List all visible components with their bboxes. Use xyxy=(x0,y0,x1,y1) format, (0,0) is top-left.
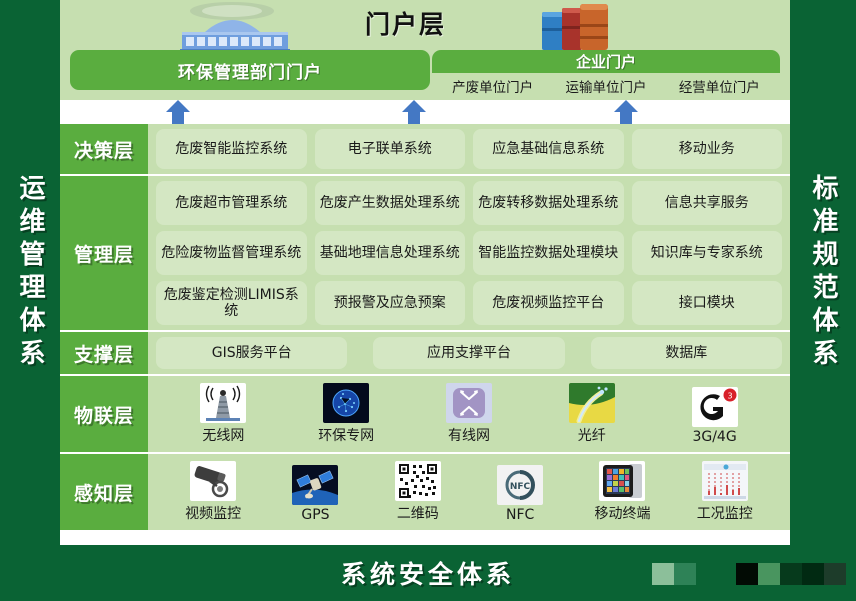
swatch xyxy=(802,563,824,585)
layer-support-label: 支撑层 xyxy=(60,332,148,374)
iot-item[interactable]: 3 3G/4G xyxy=(667,387,763,445)
iot-item[interactable]: 光纤 xyxy=(544,383,640,445)
iot-item-caption: 环保专网 xyxy=(318,425,374,445)
layer-sensing-items: 视频监控 xyxy=(156,459,782,525)
layer-decision-body: 危废智能监控系统 电子联单系统 应急基础信息系统 移动业务 xyxy=(148,124,790,174)
iot-item-caption: 3G/4G xyxy=(692,429,736,445)
layer-management: 管理层 危废超市管理系统 危废产生数据处理系统 危废转移数据处理系统 信息共享服… xyxy=(60,176,790,332)
system-cell[interactable]: 应急基础信息系统 xyxy=(473,129,624,169)
layer-decision-label: 决策层 xyxy=(60,124,148,174)
right-rail-standards-system: 标准规范体系 xyxy=(790,0,856,545)
waste-barrels-icon xyxy=(540,2,622,52)
arrow-connector-strip xyxy=(60,100,790,124)
layer-support-row-0: GIS服务平台 应用支撑平台 数据库 xyxy=(156,337,782,369)
layer-management-row-1: 危险废物监督管理系统 基础地理信息处理系统 智能监控数据处理模块 知识库与专家系… xyxy=(156,231,782,275)
layer-support: 支撑层 GIS服务平台 应用支撑平台 数据库 xyxy=(60,332,790,376)
system-cell[interactable]: 信息共享服务 xyxy=(632,181,783,225)
system-cell[interactable]: 应用支撑平台 xyxy=(373,337,564,369)
sensing-item[interactable]: 视频监控 xyxy=(165,461,261,523)
system-cell[interactable]: 移动业务 xyxy=(632,129,783,169)
process-monitor-icon xyxy=(702,461,748,501)
sensing-item-caption: 移动终端 xyxy=(594,503,650,523)
cctv-camera-icon xyxy=(190,461,236,501)
sensing-item[interactable]: 二维码 xyxy=(370,461,466,523)
swatch xyxy=(736,563,758,585)
enterprise-portal-sublinks: 产废单位门户 运输单位门户 经营单位门户 xyxy=(432,73,780,98)
layer-sensing-body: 视频监控 xyxy=(148,454,790,530)
arrow-up-icon xyxy=(165,100,191,124)
system-cell[interactable]: 接口模块 xyxy=(632,281,783,325)
system-cell[interactable]: GIS服务平台 xyxy=(156,337,347,369)
gps-satellite-icon xyxy=(292,465,338,505)
government-building-icon xyxy=(170,2,300,54)
iot-item[interactable]: 环保专网 xyxy=(298,383,394,445)
swatch xyxy=(780,563,802,585)
right-rail-label: 标准规范体系 xyxy=(810,174,836,372)
left-rail-label: 运维管理体系 xyxy=(17,174,43,372)
enterprise-sub-item-2[interactable]: 经营单位门户 xyxy=(679,76,760,96)
system-cell[interactable]: 危废超市管理系统 xyxy=(156,181,307,225)
layer-support-body: GIS服务平台 应用支撑平台 数据库 xyxy=(148,332,790,374)
svg-text:3: 3 xyxy=(727,392,732,401)
system-cell[interactable]: 数据库 xyxy=(591,337,782,369)
layer-iot-label: 物联层 xyxy=(60,376,148,452)
fiber-optic-icon xyxy=(569,383,615,423)
system-cell[interactable]: 危废转移数据处理系统 xyxy=(473,181,624,225)
system-cell[interactable]: 危废产生数据处理系统 xyxy=(315,181,466,225)
swatch xyxy=(824,563,846,585)
tablet-device-icon xyxy=(599,461,645,501)
layer-stack: 门户层 环保管理部门门户 企业门户 产废单位门户 运输单位门户 经营单位门户 xyxy=(60,0,790,530)
sensing-item[interactable]: 工况监控 xyxy=(677,461,773,523)
sensing-item[interactable]: NFC NFC xyxy=(472,465,568,523)
system-cell[interactable]: 危废视频监控平台 xyxy=(473,281,624,325)
arrow-up-icon xyxy=(401,100,427,124)
wireless-tower-icon xyxy=(200,383,246,423)
layer-iot-body: 无线网 xyxy=(148,376,790,452)
portal-layer-title: 门户层 xyxy=(365,5,446,41)
router-icon xyxy=(446,383,492,423)
system-cell[interactable]: 智能监控数据处理模块 xyxy=(473,231,624,275)
enterprise-portal-title: 企业门户 xyxy=(432,50,780,73)
layer-sensing: 感知层 视频监控 xyxy=(60,454,790,530)
sensing-item[interactable]: 移动终端 xyxy=(574,461,670,523)
layer-sensing-label: 感知层 xyxy=(60,454,148,530)
swatch xyxy=(674,563,696,585)
svg-text:NFC: NFC xyxy=(510,482,531,492)
bottom-band-title: 系统安全体系 xyxy=(341,555,515,591)
layer-management-row-0: 危废超市管理系统 危废产生数据处理系统 危废转移数据处理系统 信息共享服务 xyxy=(156,181,782,225)
gov-portal-box[interactable]: 环保管理部门门户 xyxy=(70,50,430,90)
sensing-item[interactable]: GPS xyxy=(267,465,363,523)
system-cell[interactable]: 知识库与专家系统 xyxy=(632,231,783,275)
iot-item-caption: 有线网 xyxy=(448,425,490,445)
layer-management-row-2: 危废鉴定检测LIMIS系统 预报警及应急预案 危废视频监控平台 接口模块 xyxy=(156,281,782,325)
network-globe-icon xyxy=(323,383,369,423)
enterprise-sub-item-0[interactable]: 产废单位门户 xyxy=(452,76,533,96)
qr-code-icon xyxy=(395,461,441,501)
sensing-item-caption: 视频监控 xyxy=(185,503,241,523)
architecture-diagram: 运维管理体系 标准规范体系 xyxy=(0,0,856,601)
gov-portal-label: 环保管理部门门户 xyxy=(178,58,322,83)
china-mobile-g3-icon: 3 xyxy=(692,387,738,427)
left-rail-operations-management: 运维管理体系 xyxy=(0,0,60,545)
swatch-group-a xyxy=(652,563,696,585)
sensing-item-caption: GPS xyxy=(301,507,329,523)
system-cell[interactable]: 危险废物监督管理系统 xyxy=(156,231,307,275)
iot-item-caption: 无线网 xyxy=(202,425,244,445)
layer-decision: 决策层 危废智能监控系统 电子联单系统 应急基础信息系统 移动业务 xyxy=(60,124,790,176)
layer-iot-items: 无线网 xyxy=(156,381,782,447)
layer-management-body: 危废超市管理系统 危废产生数据处理系统 危废转移数据处理系统 信息共享服务 危险… xyxy=(148,176,790,330)
color-swatch-strip xyxy=(652,563,846,585)
sensing-item-caption: 工况监控 xyxy=(697,503,753,523)
enterprise-portal-box[interactable]: 企业门户 产废单位门户 运输单位门户 经营单位门户 xyxy=(432,50,780,98)
swatch xyxy=(652,563,674,585)
sensing-item-caption: 二维码 xyxy=(397,503,439,523)
system-cell[interactable]: 危废智能监控系统 xyxy=(156,129,307,169)
system-cell[interactable]: 基础地理信息处理系统 xyxy=(315,231,466,275)
iot-item[interactable]: 无线网 xyxy=(175,383,271,445)
system-cell[interactable]: 危废鉴定检测LIMIS系统 xyxy=(156,281,307,325)
sensing-item-caption: NFC xyxy=(506,507,534,523)
nfc-icon: NFC xyxy=(497,465,543,505)
swatch-group-b xyxy=(736,563,846,585)
portal-layer: 门户层 环保管理部门门户 企业门户 产废单位门户 运输单位门户 经营单位门户 xyxy=(60,0,790,100)
enterprise-sub-item-1[interactable]: 运输单位门户 xyxy=(565,76,646,96)
system-cell[interactable]: 预报警及应急预案 xyxy=(315,281,466,325)
layer-iot: 物联层 xyxy=(60,376,790,454)
bottom-security-band: 系统安全体系 xyxy=(0,545,856,601)
arrow-up-icon xyxy=(613,100,639,124)
layer-decision-row-0: 危废智能监控系统 电子联单系统 应急基础信息系统 移动业务 xyxy=(156,129,782,169)
iot-item-caption: 光纤 xyxy=(578,425,606,445)
system-cell[interactable]: 电子联单系统 xyxy=(315,129,466,169)
layer-management-label: 管理层 xyxy=(60,176,148,330)
iot-item[interactable]: 有线网 xyxy=(421,383,517,445)
swatch xyxy=(758,563,780,585)
